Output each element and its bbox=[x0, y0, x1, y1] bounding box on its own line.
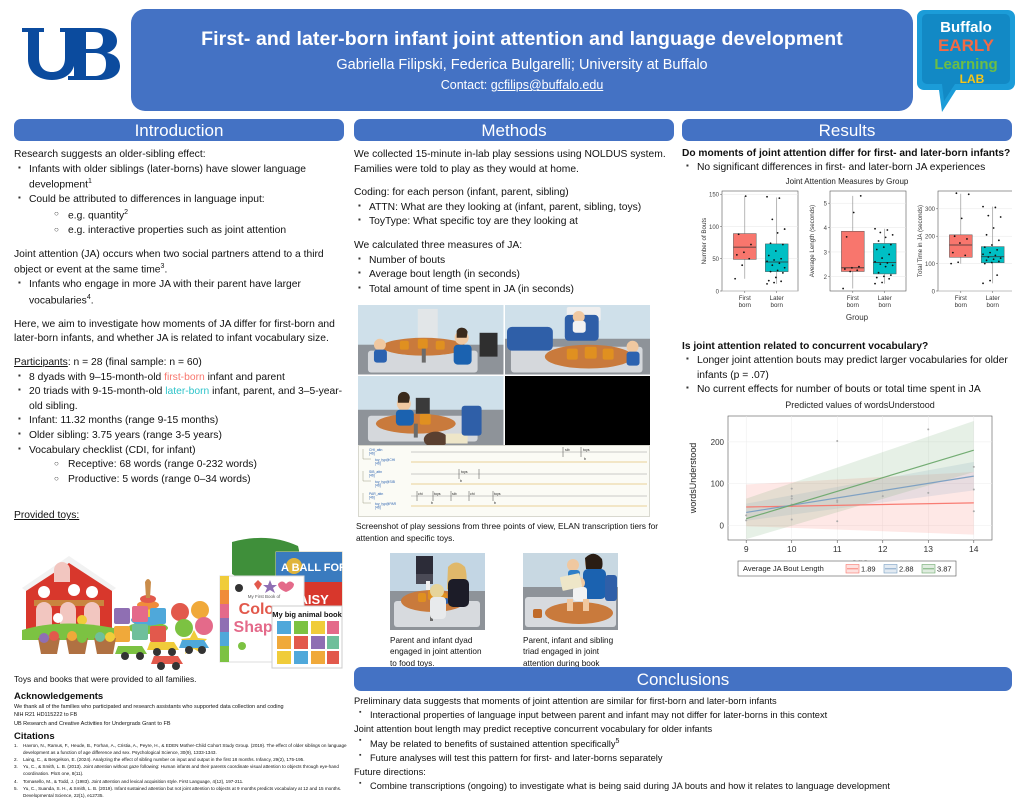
svg-text:toys: toys bbox=[434, 492, 441, 496]
svg-text:[46]: [46] bbox=[375, 506, 381, 510]
svg-text:toys: toys bbox=[461, 470, 468, 474]
svg-text:[46]: [46] bbox=[369, 474, 375, 478]
svg-text:Later: Later bbox=[878, 295, 892, 302]
ja-bullet-list: Infants who engage in more JA with their… bbox=[14, 278, 344, 309]
svg-text:[46]: [46] bbox=[375, 484, 381, 488]
methods-column: Methods We collected 15-minute in-lab pl… bbox=[354, 119, 674, 680]
list-item: 8 dyads with 9–15-month-old first-born i… bbox=[14, 371, 344, 386]
pb-0-highlight: first-born bbox=[164, 372, 205, 383]
svg-text:Predicted values of wordsUnder: Predicted values of wordsUnderstood bbox=[785, 400, 935, 410]
participants-line: Participants: n = 28 (final sample: n = … bbox=[14, 356, 344, 371]
list-item: ATTN: What are they looking at (infant, … bbox=[354, 201, 674, 216]
participants-bullet-list: 8 dyads with 9–15-month-old first-born i… bbox=[14, 371, 344, 459]
svg-text:150: 150 bbox=[709, 193, 720, 199]
provided-toys-image: A BALL FOR DAISY bbox=[14, 530, 344, 670]
svg-text:First: First bbox=[739, 295, 751, 302]
conclusions-list-3: Combine transcriptions (ongoing) to inve… bbox=[354, 780, 1012, 794]
svg-text:Average Length (seconds): Average Length (seconds) bbox=[809, 205, 816, 277]
list-item: No current effects for number of bouts o… bbox=[682, 383, 1012, 398]
conclusions-bullet-2-0-sup: 5 bbox=[615, 738, 619, 745]
results-q2-body: Longer joint attention bouts may predict… bbox=[682, 354, 1012, 398]
list-item: 4.Tomasello, M., & Todd, J. (1983). Join… bbox=[14, 779, 350, 786]
svg-text:Later: Later bbox=[986, 295, 1000, 302]
svg-text:5: 5 bbox=[824, 202, 828, 208]
list-item: Infant: 11.32 months (range 9-15 months) bbox=[14, 414, 344, 429]
svg-text:wordsUnderstood: wordsUnderstood bbox=[688, 443, 698, 515]
ja-definition-text: Joint attention (JA) occurs when two soc… bbox=[14, 249, 324, 276]
ub-logo bbox=[14, 18, 122, 96]
provided-toys-label: Provided toys: bbox=[14, 509, 344, 524]
citation-3: Tomasello, M., & Todd, J. (1983). Joint … bbox=[23, 779, 243, 784]
svg-text:100: 100 bbox=[925, 262, 936, 268]
acknowledgements-title: Acknowledgements bbox=[14, 691, 350, 702]
svg-text:Buffalo: Buffalo bbox=[940, 19, 992, 36]
svg-text:born: born bbox=[771, 302, 784, 309]
svg-text:0: 0 bbox=[932, 290, 936, 296]
svg-text:100: 100 bbox=[709, 225, 720, 231]
svg-text:b: b bbox=[494, 501, 496, 505]
contact-email-link[interactable]: gcfilips@buffalo.edu bbox=[491, 78, 604, 92]
svg-text:4: 4 bbox=[824, 226, 828, 232]
pb-0-pre: 8 dyads with 9–15-month-old bbox=[29, 372, 164, 383]
svg-text:Total Time in JA (seconds): Total Time in JA (seconds) bbox=[917, 205, 924, 277]
methods-coding-head: Coding: for each person (infant, parent,… bbox=[354, 186, 674, 201]
svg-text:born: born bbox=[879, 302, 892, 309]
methods-measures-list: Number of bouts Average bout length (in … bbox=[354, 254, 674, 298]
methods-body: We collected 15-minute in-lab play sessi… bbox=[354, 148, 674, 297]
citations-title: Citations bbox=[14, 731, 350, 742]
conclusions-list-1: Interactional properties of language inp… bbox=[354, 709, 1012, 723]
list-item: Future analyses will test this pattern f… bbox=[354, 752, 1012, 766]
citations-list: 1.Havron, N., Ramus, F., Heude, B., Forh… bbox=[14, 743, 350, 800]
conclusions-body: Preliminary data suggests that moments o… bbox=[354, 695, 1012, 794]
vocab-sub-list: Receptive: 68 words (range 0-232 words) … bbox=[14, 458, 344, 487]
svg-text:200: 200 bbox=[711, 438, 725, 447]
svg-text:b: b bbox=[460, 479, 462, 483]
conclusions-line-2: Joint attention bout length may predict … bbox=[354, 723, 1012, 737]
ja-bullet-sup: 4 bbox=[87, 294, 91, 301]
conclusions-line-1: Preliminary data suggests that moments o… bbox=[354, 695, 1012, 709]
svg-text:chi: chi bbox=[470, 492, 475, 496]
svg-text:13: 13 bbox=[924, 544, 934, 554]
svg-text:1.89: 1.89 bbox=[861, 564, 876, 573]
list-item: Total amount of time spent in JA (in sec… bbox=[354, 283, 674, 298]
svg-text:3: 3 bbox=[824, 251, 828, 257]
results-question-2: Is joint attention related to concurrent… bbox=[682, 340, 1012, 354]
svg-text:EARLY: EARLY bbox=[938, 36, 995, 55]
list-item: May be related to benefits of sustained … bbox=[354, 737, 1012, 752]
list-item: Infants with older siblings (later-borns… bbox=[14, 163, 344, 194]
intro-sub-0: e.g. quantity bbox=[68, 210, 124, 221]
svg-text:born: born bbox=[739, 302, 752, 309]
introduction-body: Research suggests an older-sibling effec… bbox=[14, 148, 344, 524]
svg-text:2: 2 bbox=[824, 275, 828, 281]
intro-bullet-1: Could be attributed to differences in la… bbox=[29, 194, 265, 205]
svg-text:LAB: LAB bbox=[960, 72, 985, 86]
svg-text:A BALL FOR: A BALL FOR bbox=[281, 562, 344, 574]
svg-text:0: 0 bbox=[716, 290, 720, 296]
intro-bullet-0: Infants with older siblings (later-borns… bbox=[29, 164, 306, 191]
conclusions-line-3: Future directions: bbox=[354, 766, 1012, 780]
predicted-words-understood-chart: Predicted values of wordsUnderstood01002… bbox=[682, 398, 1012, 588]
svg-text:Learning: Learning bbox=[934, 56, 997, 73]
svg-text:First: First bbox=[955, 295, 967, 302]
photo-triad-frame bbox=[523, 553, 618, 630]
svg-text:11: 11 bbox=[833, 544, 842, 554]
results-q1-list: No significant differences in first- and… bbox=[682, 161, 1012, 176]
citation-2: Yu, C., & Smith, L. B. (2013). Joint att… bbox=[23, 764, 339, 776]
ja-bullet-text: Infants who engage in more JA with their… bbox=[29, 279, 301, 306]
elan-transcription-tiers: sibtoys b toysb chitoyssib chitoys bb CH… bbox=[358, 445, 650, 517]
svg-text:Joint Attention Measures by Gr: Joint Attention Measures by Group bbox=[786, 177, 909, 186]
toys-caption: Toys and books that were provided to all… bbox=[14, 674, 344, 684]
results-q1-body: No significant differences in first- and… bbox=[682, 161, 1012, 176]
svg-text:sib: sib bbox=[452, 492, 457, 496]
svg-text:Average JA Bout Length: Average JA Bout Length bbox=[743, 564, 824, 573]
screenshot-caption: Screenshot of play sessions from three p… bbox=[356, 521, 674, 544]
svg-text:12: 12 bbox=[878, 544, 888, 554]
list-item: Productive: 5 words (range 0–34 words) bbox=[54, 473, 344, 488]
svg-text:200: 200 bbox=[925, 235, 936, 241]
pb-0-post: infant and parent bbox=[205, 372, 285, 383]
list-item: 1.Havron, N., Ramus, F., Heude, B., Forh… bbox=[14, 743, 350, 757]
acknowledgement-line-0: We thank all of the families who partici… bbox=[14, 703, 350, 711]
list-item: No significant differences in first- and… bbox=[682, 161, 1012, 176]
acknowledgement-line-2: UB Research and Creative Activities for … bbox=[14, 720, 350, 728]
photo-dyad-frame bbox=[390, 553, 485, 630]
results-question-1: Do moments of joint attention differ for… bbox=[682, 147, 1012, 161]
list-item: e.g. quantity2 bbox=[54, 208, 344, 224]
conclusions-section: Conclusions Preliminary data suggests th… bbox=[354, 667, 1012, 794]
intro-sub-0-sup: 2 bbox=[124, 209, 128, 216]
list-item: Could be attributed to differences in la… bbox=[14, 193, 344, 208]
poster-contact: Contact: gcfilips@buffalo.edu bbox=[441, 78, 604, 92]
svg-text:toys: toys bbox=[494, 492, 501, 496]
ja-definition-sup: 3 bbox=[161, 263, 165, 270]
svg-text:10: 10 bbox=[787, 544, 797, 554]
svg-text:9: 9 bbox=[744, 544, 749, 554]
svg-text:b: b bbox=[584, 457, 586, 461]
poster-authors: Gabriella Filipski, Federica Bulgarelli;… bbox=[336, 57, 707, 73]
svg-text:Later: Later bbox=[770, 295, 784, 302]
svg-text:300: 300 bbox=[925, 208, 936, 214]
video-view-1 bbox=[358, 305, 504, 375]
conclusions-banner: Conclusions bbox=[354, 667, 1012, 691]
svg-text:My First Book of: My First Book of bbox=[248, 594, 281, 599]
list-item: Longer joint attention bouts may predict… bbox=[682, 354, 1012, 383]
intro-bullet-list: Infants with older siblings (later-borns… bbox=[14, 163, 344, 208]
list-item: 3.Yu, C., & Smith, L. B. (2013). Joint a… bbox=[14, 764, 350, 778]
svg-text:b: b bbox=[431, 501, 433, 505]
ja-definition: Joint attention (JA) occurs when two soc… bbox=[14, 248, 344, 279]
list-item: 2.Laing, C., & Bergelson, E. (2024). Ana… bbox=[14, 757, 350, 764]
buffalo-early-learning-lab-logo: Buffalo EARLY Learning LAB bbox=[916, 6, 1016, 114]
play-session-video-grid bbox=[358, 305, 650, 445]
list-item: 20 triads with 9-15-month-old later-born… bbox=[14, 385, 344, 414]
participants-label: Participants bbox=[14, 357, 68, 368]
introduction-banner: Introduction bbox=[14, 119, 344, 141]
svg-text:[46]: [46] bbox=[369, 496, 375, 500]
participants-value: : n = 28 (final sample: n = 60) bbox=[68, 357, 202, 368]
citation-4: Yu, C., Suanda, S. H., & Smith, L. B. (2… bbox=[23, 786, 341, 798]
methods-banner: Methods bbox=[354, 119, 674, 141]
svg-text:born: born bbox=[847, 302, 860, 309]
svg-text:born: born bbox=[955, 302, 968, 309]
intro-lead: Research suggests an older-sibling effec… bbox=[14, 148, 344, 163]
research-poster: First- and later-born infant joint atten… bbox=[0, 0, 1024, 801]
introduction-column: Introduction Research suggests an older-… bbox=[14, 119, 344, 684]
methods-photo-row: Parent and infant dyad engaged in joint … bbox=[390, 553, 674, 680]
pb-1-highlight: later-born bbox=[165, 386, 209, 397]
svg-text:born: born bbox=[987, 302, 1000, 309]
contact-label: Contact: bbox=[441, 78, 491, 92]
svg-text:[46]: [46] bbox=[369, 452, 375, 456]
acknowledgement-line-1: NIH R21 HD115222 to FB bbox=[14, 711, 350, 719]
list-item: Vocabulary checklist (CDI, for infant) bbox=[14, 444, 344, 459]
intro-sub-bullet-list: e.g. quantity2 e.g. interactive properti… bbox=[14, 208, 344, 239]
pb-1-pre: 20 triads with 9-15-month-old bbox=[29, 386, 165, 397]
poster-header: First- and later-born infant joint atten… bbox=[131, 9, 913, 111]
methods-para1: We collected 15-minute in-lab play sessi… bbox=[354, 148, 674, 177]
svg-text:sib: sib bbox=[565, 448, 570, 452]
svg-text:chi: chi bbox=[418, 492, 423, 496]
conclusions-list-2: May be related to benefits of sustained … bbox=[354, 737, 1012, 766]
list-item: 5.Yu, C., Suanda, S. H., & Smith, L. B. … bbox=[14, 786, 350, 800]
acknowledgements-section: Acknowledgements We thank all of the fam… bbox=[14, 691, 350, 800]
results-q2-list: Longer joint attention bouts may predict… bbox=[682, 354, 1012, 398]
svg-text:[46]: [46] bbox=[375, 462, 381, 466]
conclusions-bullet-2-0: May be related to benefits of sustained … bbox=[370, 739, 615, 749]
methods-coding-list: ATTN: What are they looking at (infant, … bbox=[354, 201, 674, 230]
intro-sub-1: e.g. interactive properties such as join… bbox=[68, 225, 286, 236]
svg-text:14: 14 bbox=[969, 544, 979, 554]
joint-attention-measures-chart: Joint Attention Measures by Group0501001… bbox=[682, 175, 1012, 330]
photo-triad: Parent, infant and sibling triad engaged… bbox=[523, 553, 618, 680]
svg-text:First: First bbox=[847, 295, 859, 302]
svg-text:2.88: 2.88 bbox=[899, 564, 914, 573]
page-title: First- and later-born infant joint atten… bbox=[201, 28, 843, 50]
svg-text:50: 50 bbox=[712, 258, 719, 264]
list-item: Interactional properties of language inp… bbox=[354, 709, 1012, 723]
video-view-3 bbox=[358, 376, 504, 446]
list-item: Receptive: 68 words (range 0-232 words) bbox=[54, 458, 344, 473]
results-banner: Results bbox=[682, 119, 1012, 141]
svg-text:toys: toys bbox=[583, 448, 590, 452]
list-item: Combine transcriptions (ongoing) to inve… bbox=[354, 780, 1012, 794]
methods-measures-head: We calculated three measures of JA: bbox=[354, 239, 674, 254]
svg-text:Number of Bouts: Number of Bouts bbox=[701, 218, 708, 264]
svg-text:Group: Group bbox=[846, 313, 869, 322]
list-item: Number of bouts bbox=[354, 254, 674, 269]
svg-text:3.87: 3.87 bbox=[937, 564, 952, 573]
photo-dyad-caption: Parent and infant dyad engaged in joint … bbox=[390, 635, 485, 669]
list-item: Infants who engage in more JA with their… bbox=[14, 278, 344, 309]
list-item: ToyType: What specific toy are they look… bbox=[354, 215, 674, 230]
citation-1: Laing, C., & Bergelson, E. (2024). Analy… bbox=[23, 757, 305, 762]
citation-0: Havron, N., Ramus, F., Heude, B., Forhan… bbox=[23, 743, 347, 755]
svg-text:100: 100 bbox=[711, 480, 725, 489]
video-view-2 bbox=[505, 305, 651, 375]
results-column: Results Do moments of joint attention di… bbox=[682, 119, 1012, 588]
intro-aim: Here, we aim to investigate how moments … bbox=[14, 318, 344, 347]
list-item: e.g. interactive properties such as join… bbox=[54, 224, 344, 239]
svg-text:0: 0 bbox=[720, 521, 725, 530]
svg-text:My big animal book: My big animal book bbox=[272, 610, 342, 619]
list-item: Older sibling: 3.75 years (range 3-5 yea… bbox=[14, 429, 344, 444]
photo-dyad: Parent and infant dyad engaged in joint … bbox=[390, 553, 485, 680]
list-item: Average bout length (in seconds) bbox=[354, 268, 674, 283]
video-view-4-blank bbox=[505, 376, 651, 446]
intro-bullet-0-sup: 1 bbox=[88, 178, 92, 185]
